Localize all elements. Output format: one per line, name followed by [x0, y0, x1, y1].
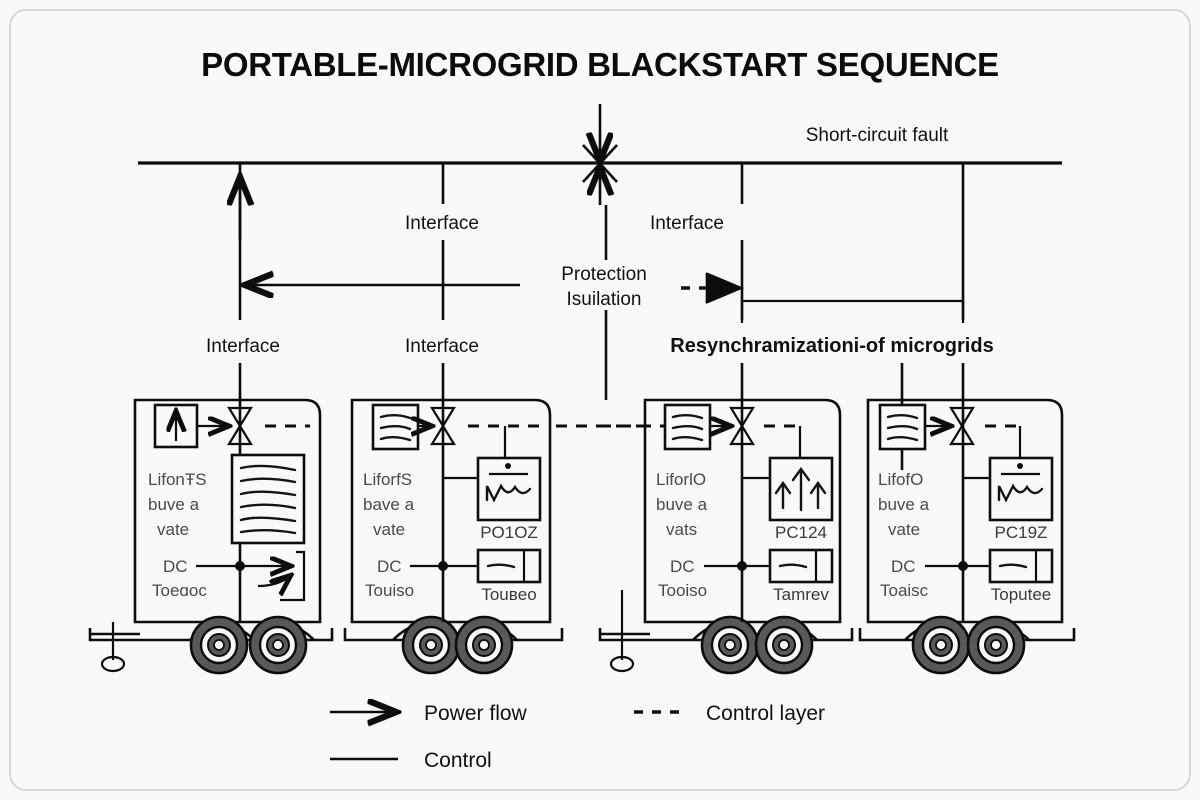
trailer-2-wheel-rear — [456, 617, 512, 673]
trailer-2-dc-dot — [505, 463, 511, 469]
protection-label-line1: Protection — [561, 264, 647, 285]
trailer-1[interactable]: LifonŦS buve a vate DC Toeɑoc — [90, 400, 332, 673]
trailer-4-label-line-2: buve a — [878, 495, 930, 514]
trailer-1-dc-node — [235, 561, 245, 571]
interface-label-4: Interface — [650, 213, 724, 234]
resync-label: Resynchramizationi-of microgrids — [670, 335, 993, 357]
trailer-4-dc-sub: Toaisc — [880, 581, 929, 600]
trailer-4-wheel-front — [913, 617, 969, 673]
interface-label-3: Interface — [405, 336, 479, 357]
trailer-4-load-label: Toputee — [991, 585, 1052, 604]
battery-meter-icon-2 — [478, 550, 540, 582]
trailer-3-label-line-1: LiforlO — [656, 470, 706, 489]
trailer-4-label-line-3: vate — [888, 520, 920, 539]
trailer-3-dc-label: DC — [670, 557, 695, 576]
trailer-3-wheel-front — [702, 617, 758, 673]
trailer-2-label-line-2: bave a — [363, 495, 415, 514]
curved-return-icon — [258, 552, 304, 600]
trailer-3-load-label: Tamrev — [773, 585, 829, 604]
diagram-canvas: PORTABLE-MICROGRID BLACKSTART SEQUENCE S… — [0, 0, 1200, 800]
trailer-4-unit-label: PC19Z — [995, 523, 1048, 542]
trailer-3-unit-label: PC124 — [775, 523, 827, 542]
trailer-3-label-line-2: buve a — [656, 495, 708, 514]
trailer-1-dc-label: DC — [163, 557, 188, 576]
battery-meter-icon-3 — [770, 550, 832, 582]
resync-bracket — [742, 301, 963, 323]
trailer-2-dc-label: DC — [377, 557, 402, 576]
trailer-2-label-line-3: vate — [373, 520, 405, 539]
trailer-3-label-line-3: vats — [666, 520, 697, 539]
trailer-4-dc-dot — [1017, 463, 1023, 469]
interface-label-1: Interface — [206, 336, 280, 357]
trailer-2-wheel-front — [403, 617, 459, 673]
trailer-3-wheel-rear — [756, 617, 812, 673]
trailer-2-dc-node — [438, 561, 448, 571]
fault-label: Short-circuit fault — [806, 125, 949, 146]
trailer-4-dc-node — [958, 561, 968, 571]
trailer-4-wheel-rear — [968, 617, 1024, 673]
battery-meter-icon-4 — [990, 550, 1052, 582]
trailer-4-label-line-1: LifofO — [878, 470, 923, 489]
trailer-3-dc-sub: Tooiso — [658, 581, 707, 600]
protection-label-line2: Isuilation — [567, 289, 642, 310]
trailer-1-wheel-front — [191, 617, 247, 673]
trailer-1-label-line-3: vate — [157, 520, 189, 539]
page-title: PORTABLE-MICROGRID BLACKSTART SEQUENCE — [201, 46, 999, 83]
trailer-1-dc-sub: Toeɑoc — [152, 581, 207, 600]
trailer-2-load-label: Touʙeo — [481, 585, 536, 604]
interface-label-2: Interface — [405, 213, 479, 234]
trailer-2-unit-label: PO1OZ — [480, 523, 538, 542]
trailer-4[interactable]: LifofO buve a vate PC19Z DC Toaisc Toput… — [860, 363, 1074, 673]
trailer-4-dc-label: DC — [891, 557, 916, 576]
legend-control-label: Control — [424, 749, 492, 772]
trailer-3[interactable]: LiforlO buve a vats PC124 DC Tooiso Tamr… — [600, 400, 852, 673]
legend: Power flow Control layer Control — [330, 702, 825, 772]
trailer-1-label-line-2: buve a — [148, 495, 200, 514]
legend-control-layer-label: Control layer — [706, 702, 825, 725]
trailer-2[interactable]: LiforfS bave a vate PO1OZ DC Touiso Touʙ… — [345, 400, 562, 673]
trailer-1-label-line-1: LifonŦS — [148, 470, 207, 489]
trailer-3-dc-node — [737, 561, 747, 571]
trailer-2-dc-sub: Touiso — [365, 581, 414, 600]
legend-power-flow-label: Power flow — [424, 702, 528, 725]
trailer-2-label-line-1: LiforfS — [363, 470, 412, 489]
trailer-1-wheel-rear — [250, 617, 306, 673]
